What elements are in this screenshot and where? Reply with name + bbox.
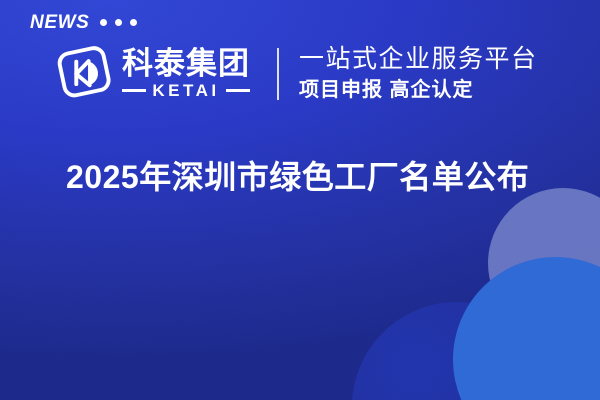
news-banner: NEWS 科泰集团 KETAI <box>0 0 600 400</box>
wordmark-rule-right <box>226 89 250 92</box>
dot-icon <box>100 19 107 26</box>
ketai-monogram-logo-icon <box>55 46 111 102</box>
tagline-block: 一站式企业服务平台 项目申报 高企认定 <box>299 44 538 103</box>
dot-icon <box>130 19 137 26</box>
tagline-secondary: 项目申报 高企认定 <box>299 78 538 103</box>
vertical-divider <box>277 48 279 100</box>
dot-icon <box>115 19 122 26</box>
wordmark-rule-left <box>122 89 146 92</box>
decorative-circle-blue <box>453 257 600 400</box>
brand-name-en: KETAI <box>152 82 219 99</box>
news-eyebrow-label: NEWS <box>30 13 89 32</box>
tagline-primary: 一站式企业服务平台 <box>299 44 538 74</box>
news-eyebrow: NEWS <box>30 13 137 32</box>
brand-name-cn: 科泰集团 <box>122 48 250 80</box>
headline-title: 2025年深圳市绿色工厂名单公布 <box>66 157 529 197</box>
brand-lockup: 科泰集团 KETAI 一站式企业服务平台 项目申报 高企认定 <box>55 44 538 103</box>
brand-name-en-row: KETAI <box>122 82 250 99</box>
brand-logo: 科泰集团 KETAI <box>55 46 250 102</box>
eyebrow-dots-icon <box>100 19 137 26</box>
brand-wordmark: 科泰集团 KETAI <box>122 48 250 99</box>
